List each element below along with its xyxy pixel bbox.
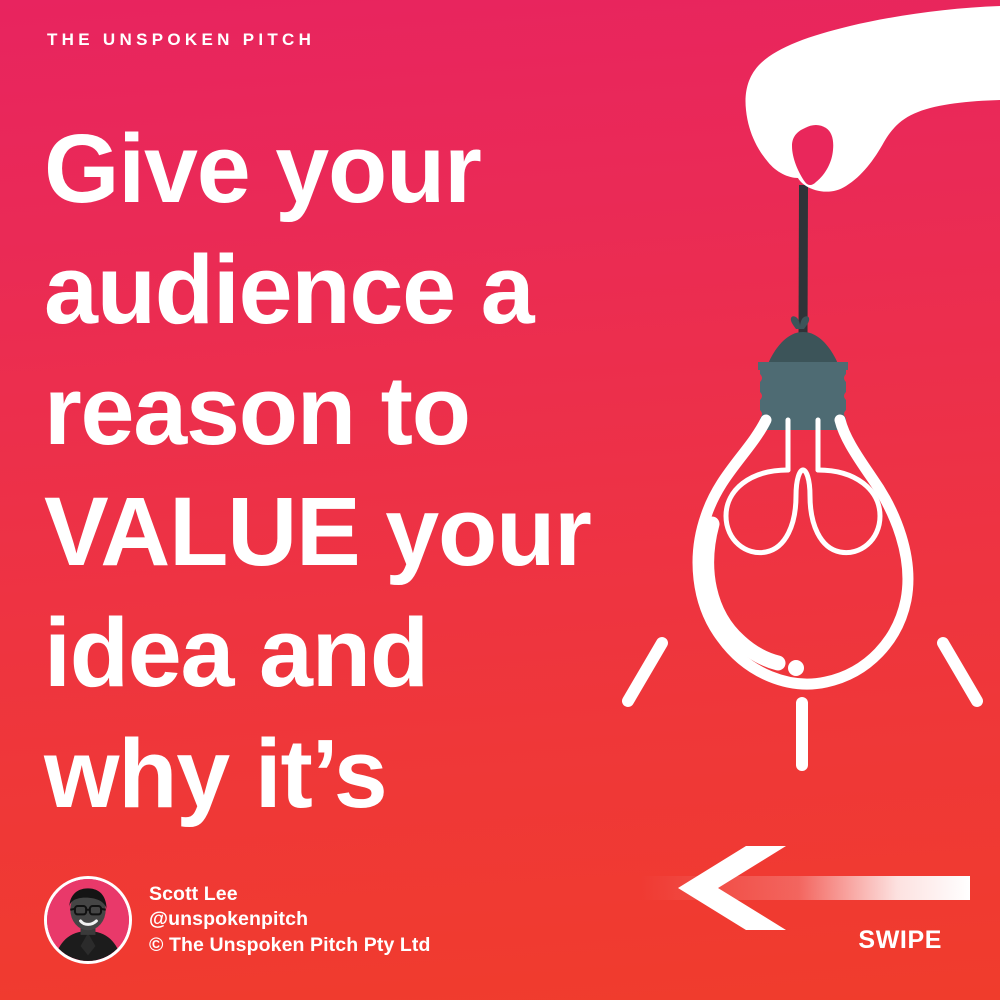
page-title: Give your audience a reason to VALUE you…	[44, 108, 644, 834]
socket-knob-icon	[791, 316, 809, 329]
bulb-highlight-icon	[707, 524, 778, 663]
social-post-card: THE UNSPOKEN PITCH Give your audience a …	[0, 0, 1000, 1000]
hand-holding-lightbulb-illustration	[600, 0, 1000, 800]
brand-wordmark: THE UNSPOKEN PITCH	[47, 31, 315, 48]
swipe-label: SWIPE	[858, 928, 942, 953]
cord-icon	[803, 185, 804, 340]
avatar	[44, 876, 132, 964]
bulb-glass-icon	[698, 420, 908, 684]
bulb-socket-icon	[758, 362, 848, 430]
headline-line: reason to	[44, 350, 644, 471]
hand-icon	[746, 6, 1000, 192]
light-ray-icon	[628, 643, 977, 765]
author-details: Scott Lee @unspokenpitch © The Unspoken …	[149, 882, 431, 959]
author-handle: @unspokenpitch	[149, 907, 431, 933]
bulb-highlight-dot-icon	[788, 660, 804, 676]
author-name: Scott Lee	[149, 882, 431, 908]
headline-line: Give your	[44, 108, 644, 229]
headline-line: VALUE your	[44, 471, 644, 592]
author-identity: Scott Lee @unspokenpitch © The Unspoken …	[44, 876, 431, 964]
copyright-notice: © The Unspoken Pitch Pty Ltd	[149, 933, 431, 959]
filament-icon	[726, 420, 880, 553]
headline-line: audience a	[44, 229, 644, 350]
bulb-socket-neck-icon	[768, 332, 838, 366]
headline-line: why it’s	[44, 713, 644, 834]
headline-line: idea and	[44, 592, 644, 713]
